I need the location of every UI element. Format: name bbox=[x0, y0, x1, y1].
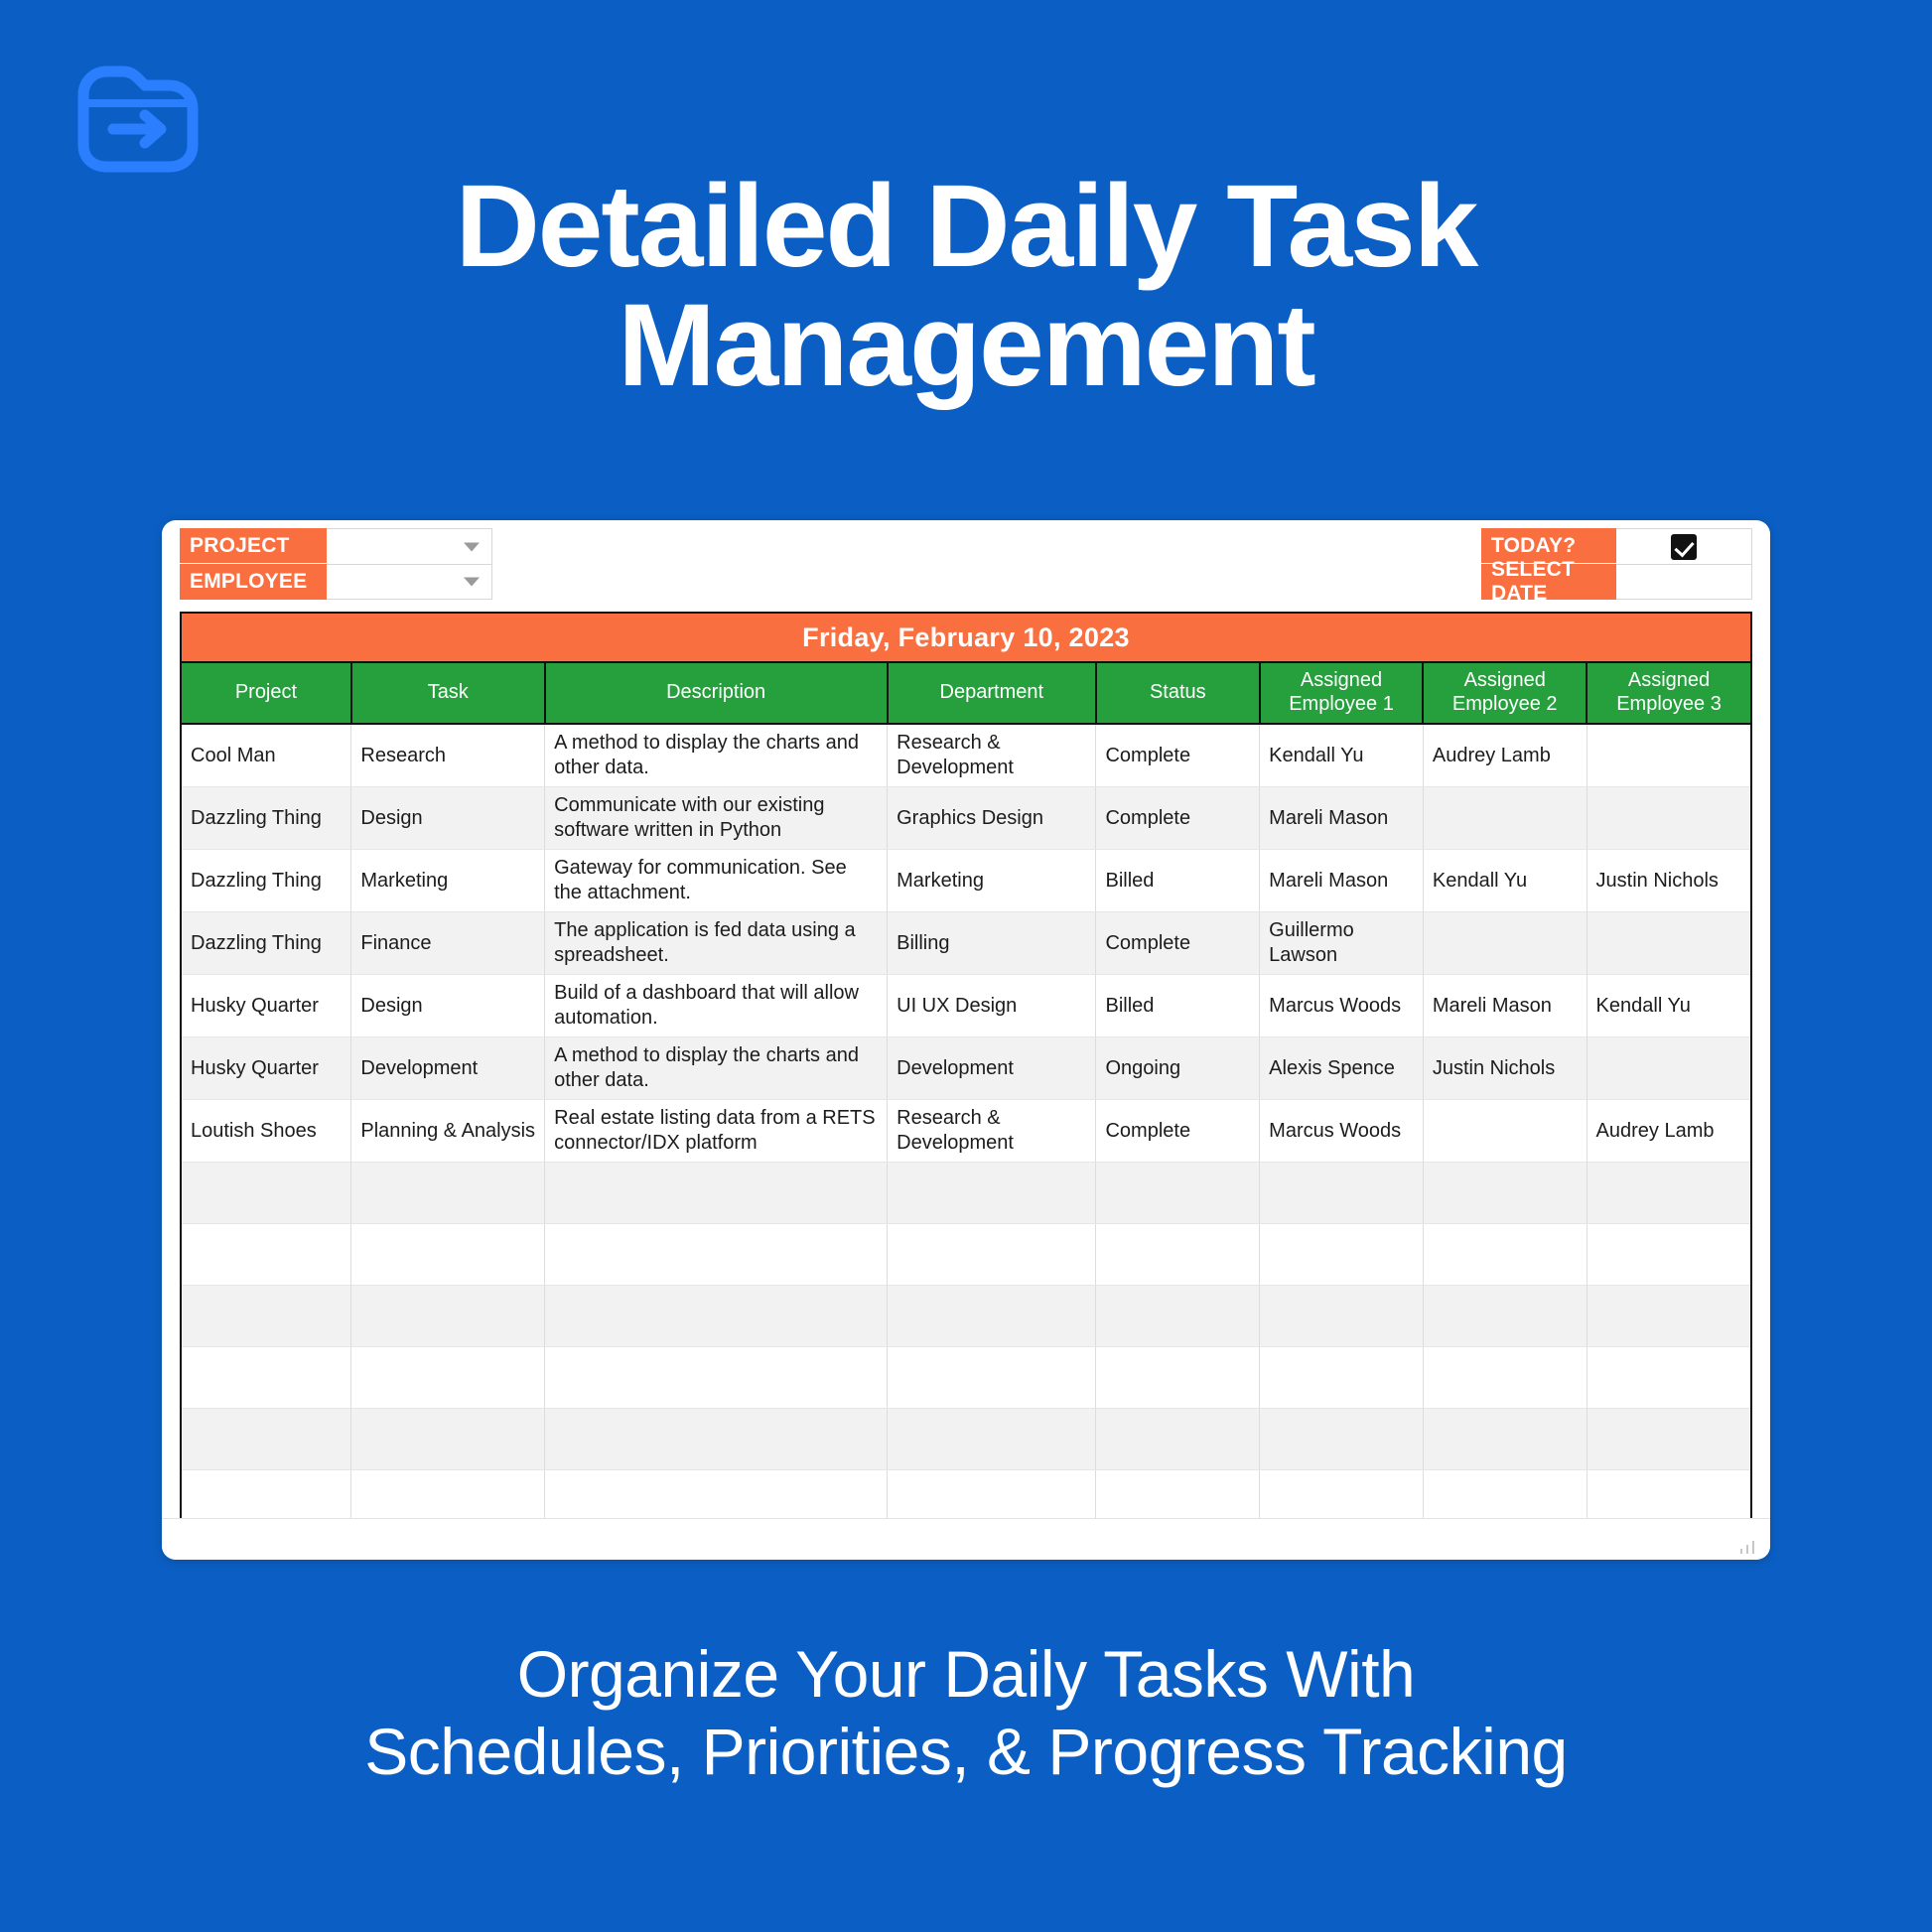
cell-project[interactable] bbox=[181, 1347, 351, 1409]
table-row[interactable]: Loutish ShoesPlanning & AnalysisReal est… bbox=[181, 1100, 1751, 1163]
cell-task[interactable] bbox=[351, 1224, 545, 1286]
cell-project[interactable]: Dazzling Thing bbox=[181, 850, 351, 912]
filter-group-left: PROJECT EMPLOYEE bbox=[180, 528, 492, 600]
cell-status[interactable] bbox=[1096, 1163, 1260, 1224]
cell-description[interactable]: A method to display the charts and other… bbox=[545, 724, 888, 787]
cell-department[interactable] bbox=[888, 1224, 1096, 1286]
cell-status[interactable]: Ongoing bbox=[1096, 1037, 1260, 1100]
cell-assigned-employee-2[interactable] bbox=[1423, 1409, 1587, 1470]
cell-project[interactable] bbox=[181, 1286, 351, 1347]
filter-label-employee: EMPLOYEE bbox=[180, 564, 327, 600]
cell-project[interactable]: Husky Quarter bbox=[181, 975, 351, 1037]
cell-assigned-employee-3[interactable] bbox=[1587, 724, 1751, 787]
cell-assigned-employee-3[interactable]: Justin Nichols bbox=[1587, 850, 1751, 912]
page-subtitle-line-2: Schedules, Priorities, & Progress Tracki… bbox=[0, 1714, 1932, 1791]
table-row[interactable] bbox=[181, 1163, 1751, 1224]
cell-department[interactable]: Graphics Design bbox=[888, 787, 1096, 850]
cell-task[interactable] bbox=[351, 1286, 545, 1347]
employee-dropdown[interactable] bbox=[327, 564, 492, 600]
cell-department[interactable] bbox=[888, 1286, 1096, 1347]
date-banner: Friday, February 10, 2023 bbox=[180, 612, 1752, 661]
col-header-project[interactable]: Project bbox=[181, 662, 351, 724]
cell-status[interactable]: Complete bbox=[1096, 787, 1260, 850]
cell-assigned-employee-3[interactable] bbox=[1587, 787, 1751, 850]
cell-department[interactable] bbox=[888, 1347, 1096, 1409]
page-title-line-2: Management bbox=[0, 286, 1932, 405]
cell-status[interactable] bbox=[1096, 1286, 1260, 1347]
table-row[interactable]: Husky QuarterDesignBuild of a dashboard … bbox=[181, 975, 1751, 1037]
cell-assigned-employee-1[interactable]: Alexis Spence bbox=[1260, 1037, 1424, 1100]
cell-assigned-employee-2[interactable]: Kendall Yu bbox=[1423, 850, 1587, 912]
cell-description[interactable]: A method to display the charts and other… bbox=[545, 1037, 888, 1100]
filter-label-project: PROJECT bbox=[180, 528, 327, 564]
cell-description[interactable]: Real estate listing data from a RETS con… bbox=[545, 1100, 888, 1163]
cell-status[interactable]: Complete bbox=[1096, 912, 1260, 975]
cell-project[interactable] bbox=[181, 1224, 351, 1286]
cell-project[interactable]: Loutish Shoes bbox=[181, 1100, 351, 1163]
task-table-body: Cool ManResearchA method to display the … bbox=[181, 724, 1751, 1560]
cell-assigned-employee-2[interactable] bbox=[1423, 1100, 1587, 1163]
cell-assigned-employee-2[interactable]: Mareli Mason bbox=[1423, 975, 1587, 1037]
col-header-label: Department bbox=[940, 681, 1044, 703]
filter-row-project: PROJECT bbox=[180, 528, 492, 564]
col-header-task[interactable]: Task bbox=[351, 662, 545, 724]
cell-assigned-employee-3[interactable] bbox=[1587, 1286, 1751, 1347]
cell-department[interactable]: Billing bbox=[888, 912, 1096, 975]
table-row[interactable] bbox=[181, 1224, 1751, 1286]
cell-assigned-employee-1[interactable]: Guillermo Lawson bbox=[1260, 912, 1424, 975]
cell-description[interactable] bbox=[545, 1347, 888, 1409]
cell-assigned-employee-1[interactable]: Mareli Mason bbox=[1260, 850, 1424, 912]
cell-description[interactable] bbox=[545, 1163, 888, 1224]
col-header-label: Assigned bbox=[1464, 669, 1546, 691]
checkbox-checked-icon[interactable] bbox=[1671, 534, 1697, 560]
cell-department[interactable] bbox=[888, 1163, 1096, 1224]
cell-project[interactable] bbox=[181, 1163, 351, 1224]
col-header-department[interactable]: Department bbox=[888, 662, 1096, 724]
cell-department[interactable]: UI UX Design bbox=[888, 975, 1096, 1037]
cell-department[interactable]: Marketing bbox=[888, 850, 1096, 912]
table-row[interactable] bbox=[181, 1347, 1751, 1409]
table-row[interactable]: Dazzling ThingMarketingGateway for commu… bbox=[181, 850, 1751, 912]
cell-project[interactable]: Dazzling Thing bbox=[181, 787, 351, 850]
page-title-line-1: Detailed Daily Task bbox=[456, 161, 1477, 292]
col-header-label: Status bbox=[1150, 681, 1206, 703]
project-dropdown[interactable] bbox=[327, 528, 492, 564]
cell-assigned-employee-2[interactable] bbox=[1423, 1286, 1587, 1347]
cell-assigned-employee-3[interactable]: Audrey Lamb bbox=[1587, 1100, 1751, 1163]
cell-description[interactable]: Communicate with our existing software w… bbox=[545, 787, 888, 850]
cell-assigned-employee-2[interactable] bbox=[1423, 1163, 1587, 1224]
cell-assigned-employee-1[interactable] bbox=[1260, 1163, 1424, 1224]
cell-status[interactable]: Billed bbox=[1096, 850, 1260, 912]
cell-assigned-employee-3[interactable] bbox=[1587, 1037, 1751, 1100]
cell-task[interactable] bbox=[351, 1163, 545, 1224]
cell-assigned-employee-3[interactable] bbox=[1587, 912, 1751, 975]
cell-assigned-employee-3[interactable] bbox=[1587, 1347, 1751, 1409]
cell-status[interactable]: Billed bbox=[1096, 975, 1260, 1037]
col-header-description[interactable]: Description bbox=[545, 662, 888, 724]
col-header-label: Project bbox=[235, 681, 297, 703]
cell-assigned-employee-3[interactable]: Kendall Yu bbox=[1587, 975, 1751, 1037]
col-header-status[interactable]: Status bbox=[1096, 662, 1260, 724]
promo-page: Detailed Daily Task Management PROJECT E… bbox=[0, 0, 1932, 1932]
filter-label-select-date: SELECT DATE bbox=[1481, 564, 1616, 600]
table-row[interactable]: Dazzling ThingFinanceThe application is … bbox=[181, 912, 1751, 975]
select-date-input[interactable] bbox=[1616, 564, 1752, 600]
col-header-assigned-employee-3[interactable]: Assigned Employee 3 bbox=[1587, 662, 1751, 724]
cell-project[interactable]: Cool Man bbox=[181, 724, 351, 787]
filter-row-employee: EMPLOYEE bbox=[180, 564, 492, 600]
cell-task[interactable]: Design bbox=[351, 975, 545, 1037]
cell-assigned-employee-3[interactable] bbox=[1587, 1163, 1751, 1224]
col-header-assigned-employee-1[interactable]: Assigned Employee 1 bbox=[1260, 662, 1424, 724]
cell-assigned-employee-2[interactable]: Justin Nichols bbox=[1423, 1037, 1587, 1100]
col-header-sublabel: Employee 3 bbox=[1616, 693, 1722, 715]
col-header-label: Task bbox=[428, 681, 469, 703]
table-row[interactable]: Cool ManResearchA method to display the … bbox=[181, 724, 1751, 787]
cell-assigned-employee-1[interactable]: Kendall Yu bbox=[1260, 724, 1424, 787]
filter-row-select-date: SELECT DATE bbox=[1481, 564, 1752, 600]
cell-assigned-employee-3[interactable] bbox=[1587, 1409, 1751, 1470]
table-row[interactable]: Husky QuarterDevelopmentA method to disp… bbox=[181, 1037, 1751, 1100]
cell-assigned-employee-2[interactable] bbox=[1423, 1347, 1587, 1409]
table-header-row: Project Task Description Department Stat bbox=[181, 662, 1751, 724]
cell-status[interactable] bbox=[1096, 1224, 1260, 1286]
cell-description[interactable] bbox=[545, 1286, 888, 1347]
task-table: Project Task Description Department Stat bbox=[180, 661, 1752, 1560]
cell-project[interactable] bbox=[181, 1409, 351, 1470]
cell-project[interactable]: Husky Quarter bbox=[181, 1037, 351, 1100]
chevron-down-icon bbox=[464, 578, 480, 587]
cell-description[interactable]: Gateway for communication. See the attac… bbox=[545, 850, 888, 912]
cell-assigned-employee-2[interactable] bbox=[1423, 1224, 1587, 1286]
spreadsheet-body: PROJECT EMPLOYEE bbox=[162, 520, 1770, 1560]
cell-assigned-employee-1[interactable]: Mareli Mason bbox=[1260, 787, 1424, 850]
cell-task[interactable]: Research bbox=[351, 724, 545, 787]
cell-task[interactable] bbox=[351, 1347, 545, 1409]
sheet-footer bbox=[162, 1518, 1770, 1560]
cell-assigned-employee-2[interactable]: Audrey Lamb bbox=[1423, 724, 1587, 787]
cell-project[interactable]: Dazzling Thing bbox=[181, 912, 351, 975]
col-header-label: Assigned bbox=[1628, 669, 1710, 691]
today-checkbox-cell[interactable] bbox=[1616, 528, 1752, 564]
table-row[interactable] bbox=[181, 1286, 1751, 1347]
cell-department[interactable] bbox=[888, 1409, 1096, 1470]
cell-department[interactable]: Development bbox=[888, 1037, 1096, 1100]
table-row[interactable]: Dazzling ThingDesignCommunicate with our… bbox=[181, 787, 1751, 850]
col-header-label: Description bbox=[666, 681, 765, 703]
filter-group-right: TODAY? SELECT DATE bbox=[1481, 528, 1752, 600]
cell-assigned-employee-1[interactable] bbox=[1260, 1347, 1424, 1409]
col-header-sublabel: Employee 1 bbox=[1289, 693, 1394, 715]
cell-description[interactable]: Build of a dashboard that will allow aut… bbox=[545, 975, 888, 1037]
cell-status[interactable]: Complete bbox=[1096, 724, 1260, 787]
cell-task[interactable]: Design bbox=[351, 787, 545, 850]
spreadsheet-card: PROJECT EMPLOYEE bbox=[162, 520, 1770, 1560]
cell-task[interactable] bbox=[351, 1409, 545, 1470]
resize-grip-icon[interactable] bbox=[1738, 1540, 1758, 1554]
col-header-sublabel: Employee 2 bbox=[1452, 693, 1558, 715]
cell-department[interactable]: Research & Development bbox=[888, 724, 1096, 787]
cell-task[interactable]: Planning & Analysis bbox=[351, 1100, 545, 1163]
page-subtitle: Organize Your Daily Tasks With Schedules… bbox=[0, 1636, 1932, 1791]
cell-task[interactable]: Development bbox=[351, 1037, 545, 1100]
cell-assigned-employee-3[interactable] bbox=[1587, 1224, 1751, 1286]
filter-bar: PROJECT EMPLOYEE bbox=[172, 528, 1760, 600]
cell-assigned-employee-2[interactable] bbox=[1423, 787, 1587, 850]
cell-description[interactable] bbox=[545, 1409, 888, 1470]
cell-assigned-employee-1[interactable]: Marcus Woods bbox=[1260, 975, 1424, 1037]
cell-assigned-employee-2[interactable] bbox=[1423, 912, 1587, 975]
cell-status[interactable] bbox=[1096, 1347, 1260, 1409]
table-row[interactable] bbox=[181, 1409, 1751, 1470]
cell-task[interactable]: Finance bbox=[351, 912, 545, 975]
cell-task[interactable]: Marketing bbox=[351, 850, 545, 912]
page-subtitle-line-1: Organize Your Daily Tasks With bbox=[517, 1637, 1416, 1711]
cell-assigned-employee-1[interactable] bbox=[1260, 1286, 1424, 1347]
cell-status[interactable]: Complete bbox=[1096, 1100, 1260, 1163]
cell-assigned-employee-1[interactable] bbox=[1260, 1409, 1424, 1470]
chevron-down-icon bbox=[464, 542, 480, 551]
cell-status[interactable] bbox=[1096, 1409, 1260, 1470]
cell-description[interactable] bbox=[545, 1224, 888, 1286]
cell-description[interactable]: The application is fed data using a spre… bbox=[545, 912, 888, 975]
cell-department[interactable]: Research & Development bbox=[888, 1100, 1096, 1163]
cell-assigned-employee-1[interactable]: Marcus Woods bbox=[1260, 1100, 1424, 1163]
folder-arrow-right-icon bbox=[73, 60, 203, 177]
cell-assigned-employee-1[interactable] bbox=[1260, 1224, 1424, 1286]
task-table-head: Project Task Description Department Stat bbox=[181, 662, 1751, 724]
col-header-label: Assigned bbox=[1301, 669, 1382, 691]
col-header-assigned-employee-2[interactable]: Assigned Employee 2 bbox=[1423, 662, 1587, 724]
page-title: Detailed Daily Task Management bbox=[0, 167, 1932, 406]
